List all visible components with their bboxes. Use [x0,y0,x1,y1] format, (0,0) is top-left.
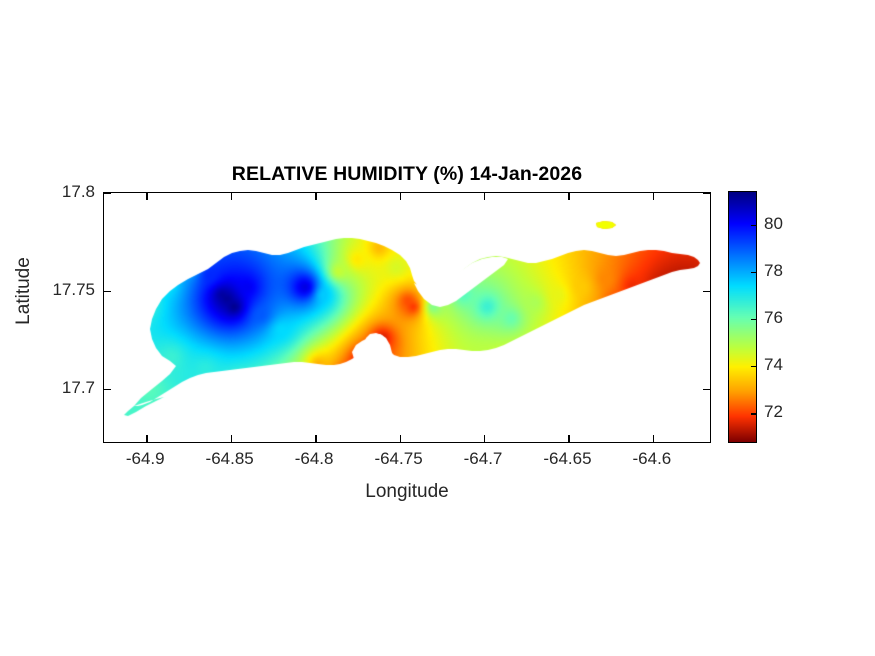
x-tick-bottom [653,435,654,442]
y-tick-label: 17.8 [62,182,95,202]
x-tick-label: -64.6 [633,449,672,469]
colorbar[interactable] [728,191,757,443]
colorbar-tick [751,272,756,273]
x-tick-bottom [231,435,232,442]
y-tick-label: 17.7 [62,378,95,398]
x-tick-top [146,193,147,200]
x-tick-label: -64.65 [543,449,591,469]
colorbar-tick-label: 80 [764,214,783,234]
x-tick-top [568,193,569,200]
x-tick-top [315,193,316,200]
x-tick-label: -64.85 [206,449,254,469]
map-axes[interactable] [103,192,711,443]
colorbar-tick [751,225,756,226]
colorbar-tick-label: 72 [764,402,783,422]
colorbar-tick-label: 78 [764,261,783,281]
y-tick-left [104,193,111,194]
humidity-heatmap [104,193,711,443]
x-tick-label: -64.75 [374,449,422,469]
y-tick-right [703,291,710,292]
x-tick-top [231,193,232,200]
colorbar-gradient [729,192,756,442]
x-tick-label: -64.9 [126,449,165,469]
x-tick-bottom [484,435,485,442]
x-tick-top [400,193,401,200]
colorbar-tick [751,366,756,367]
x-tick-bottom [315,435,316,442]
y-axis-label: Latitude [13,236,35,346]
x-tick-label: -64.8 [295,449,334,469]
x-tick-top [653,193,654,200]
x-axis-label: Longitude [103,481,711,503]
colorbar-tick [751,319,756,320]
y-tick-label: 17.75 [52,280,95,300]
colorbar-tick [751,413,756,414]
y-tick-right [703,193,710,194]
colorbar-tick-label: 76 [764,308,783,328]
x-tick-label: -64.7 [464,449,503,469]
x-tick-bottom [568,435,569,442]
y-tick-left [104,291,111,292]
y-tick-left [104,389,111,390]
figure-canvas: RELATIVE HUMIDITY (%) 14-Jan-2026 -64.9-… [0,0,875,656]
x-tick-bottom [146,435,147,442]
x-tick-top [484,193,485,200]
y-tick-right [703,389,710,390]
page-title: RELATIVE HUMIDITY (%) 14-Jan-2026 [103,163,711,186]
x-tick-bottom [400,435,401,442]
colorbar-tick-label: 74 [764,355,783,375]
